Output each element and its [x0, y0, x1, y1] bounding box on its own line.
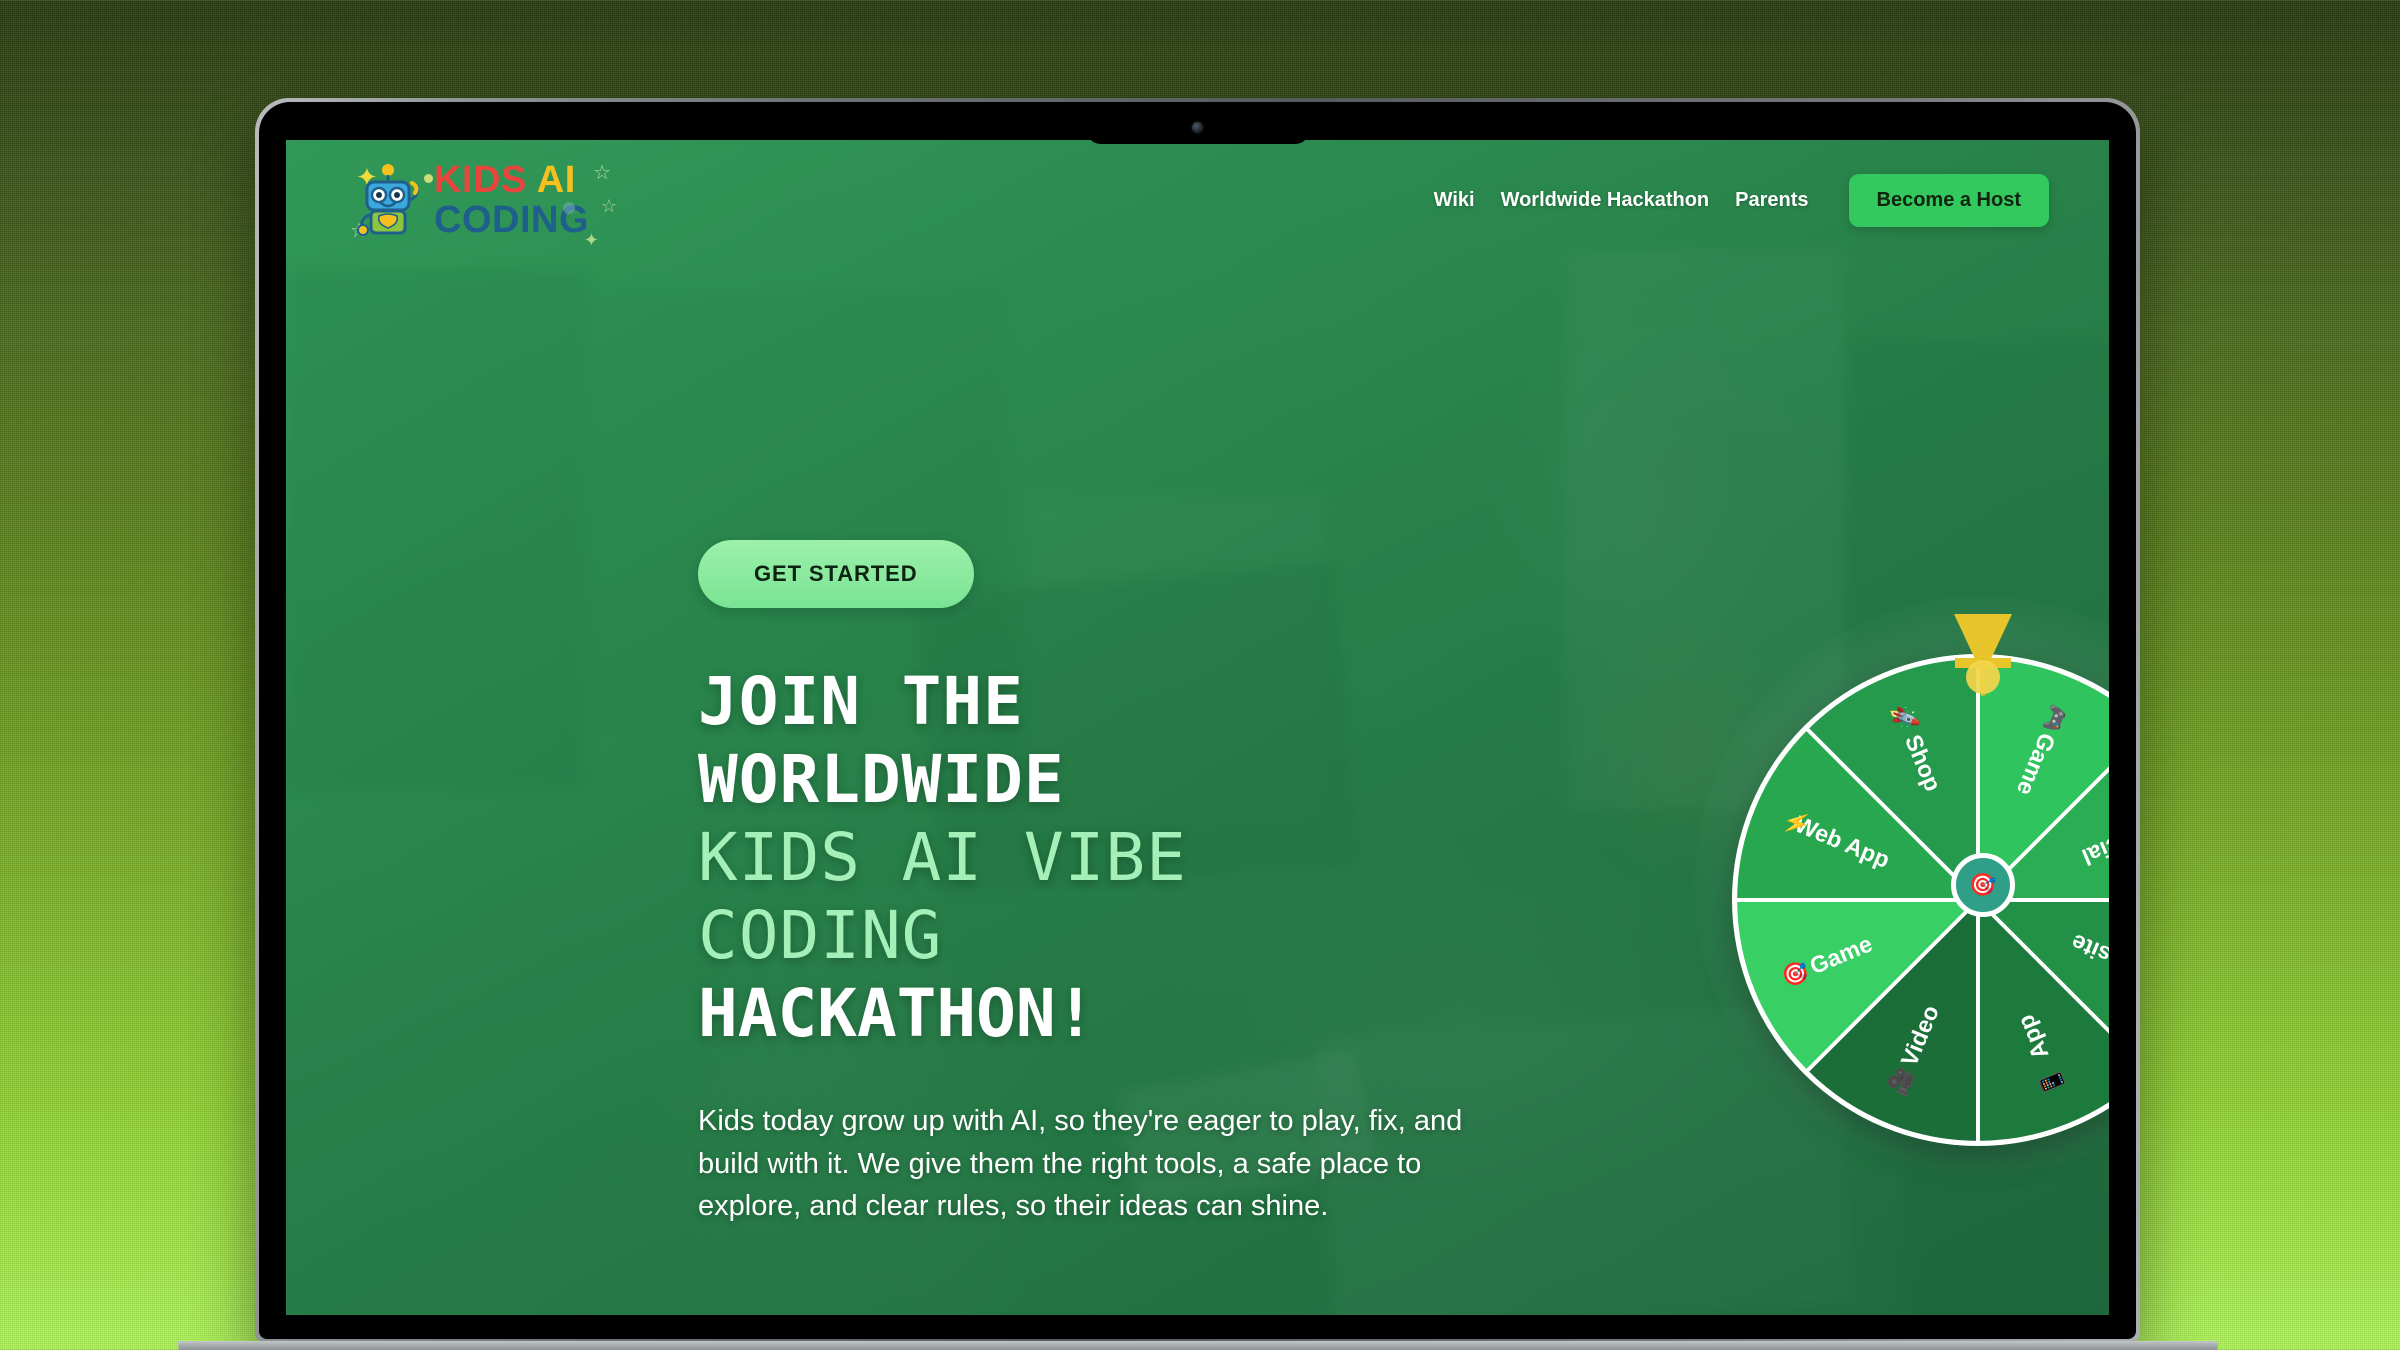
headline-line-2: WORLDWIDE [698, 741, 1598, 819]
hero-paragraph: Kids today grow up with AI, so they're e… [698, 1100, 1498, 1227]
star-outline-icon: ☆ [601, 196, 617, 217]
laptop-lid: ✦ ☆ ☆ ☆ ✦ [255, 98, 2140, 1343]
get-started-button[interactable]: GET STARTED [698, 540, 974, 608]
dart-target-icon: 🎯 [1969, 872, 1996, 898]
laptop-base [178, 1341, 2218, 1350]
spinner-wheel[interactable]: Game🎮Social💻Website🌐App📱Video🎥Game🎯Web A… [1716, 618, 2109, 1152]
robot-icon [356, 163, 420, 237]
triangle-pointer-icon [1951, 614, 2015, 706]
page-title: JOIN THE WORLDWIDE KIDS AI VIBE CODING H… [698, 663, 1598, 1052]
headline-line-3: KIDS AI VIBE [698, 819, 1598, 897]
laptop-device: ✦ ☆ ☆ ☆ ✦ [255, 98, 2140, 1343]
camera-dot-icon [1192, 122, 1203, 133]
hero-section: GET STARTED JOIN THE WORLDWIDE KIDS AI V… [286, 140, 2109, 1315]
brand-ai-text: AI [537, 159, 576, 201]
main-navigation: Wiki Worldwide Hackathon Parents Become … [1434, 174, 2049, 227]
hero-text-column: GET STARTED JOIN THE WORLDWIDE KIDS AI V… [698, 540, 1598, 1227]
brand-logo[interactable]: ✦ ☆ ☆ ☆ ✦ [348, 156, 605, 245]
laptop-bezel: ✦ ☆ ☆ ☆ ✦ [259, 102, 2136, 1339]
headline-line-4: CODING [698, 897, 1598, 975]
star-outline-icon: ☆ [593, 160, 611, 185]
nav-item-wiki[interactable]: Wiki [1434, 189, 1475, 212]
brand-kids-text: KIDS [434, 159, 527, 201]
brand-wordmark: KIDSAI CODING [434, 162, 589, 239]
dot-decor-icon [563, 202, 575, 214]
site-header: ✦ ☆ ☆ ☆ ✦ [286, 140, 2109, 260]
nav-item-worldwide-hackathon[interactable]: Worldwide Hackathon [1501, 189, 1710, 212]
become-a-host-button[interactable]: Become a Host [1849, 174, 2050, 227]
wheel-hub[interactable]: 🎯 [1951, 853, 2015, 917]
nav-item-parents[interactable]: Parents [1735, 189, 1808, 212]
headline-line-1: JOIN THE [698, 663, 1598, 741]
dot-decor-icon [424, 174, 433, 183]
laptop-notch [1086, 102, 1309, 144]
headline-line-5: HACKATHON! [698, 975, 1598, 1053]
browser-viewport: ✦ ☆ ☆ ☆ ✦ [286, 140, 2109, 1315]
